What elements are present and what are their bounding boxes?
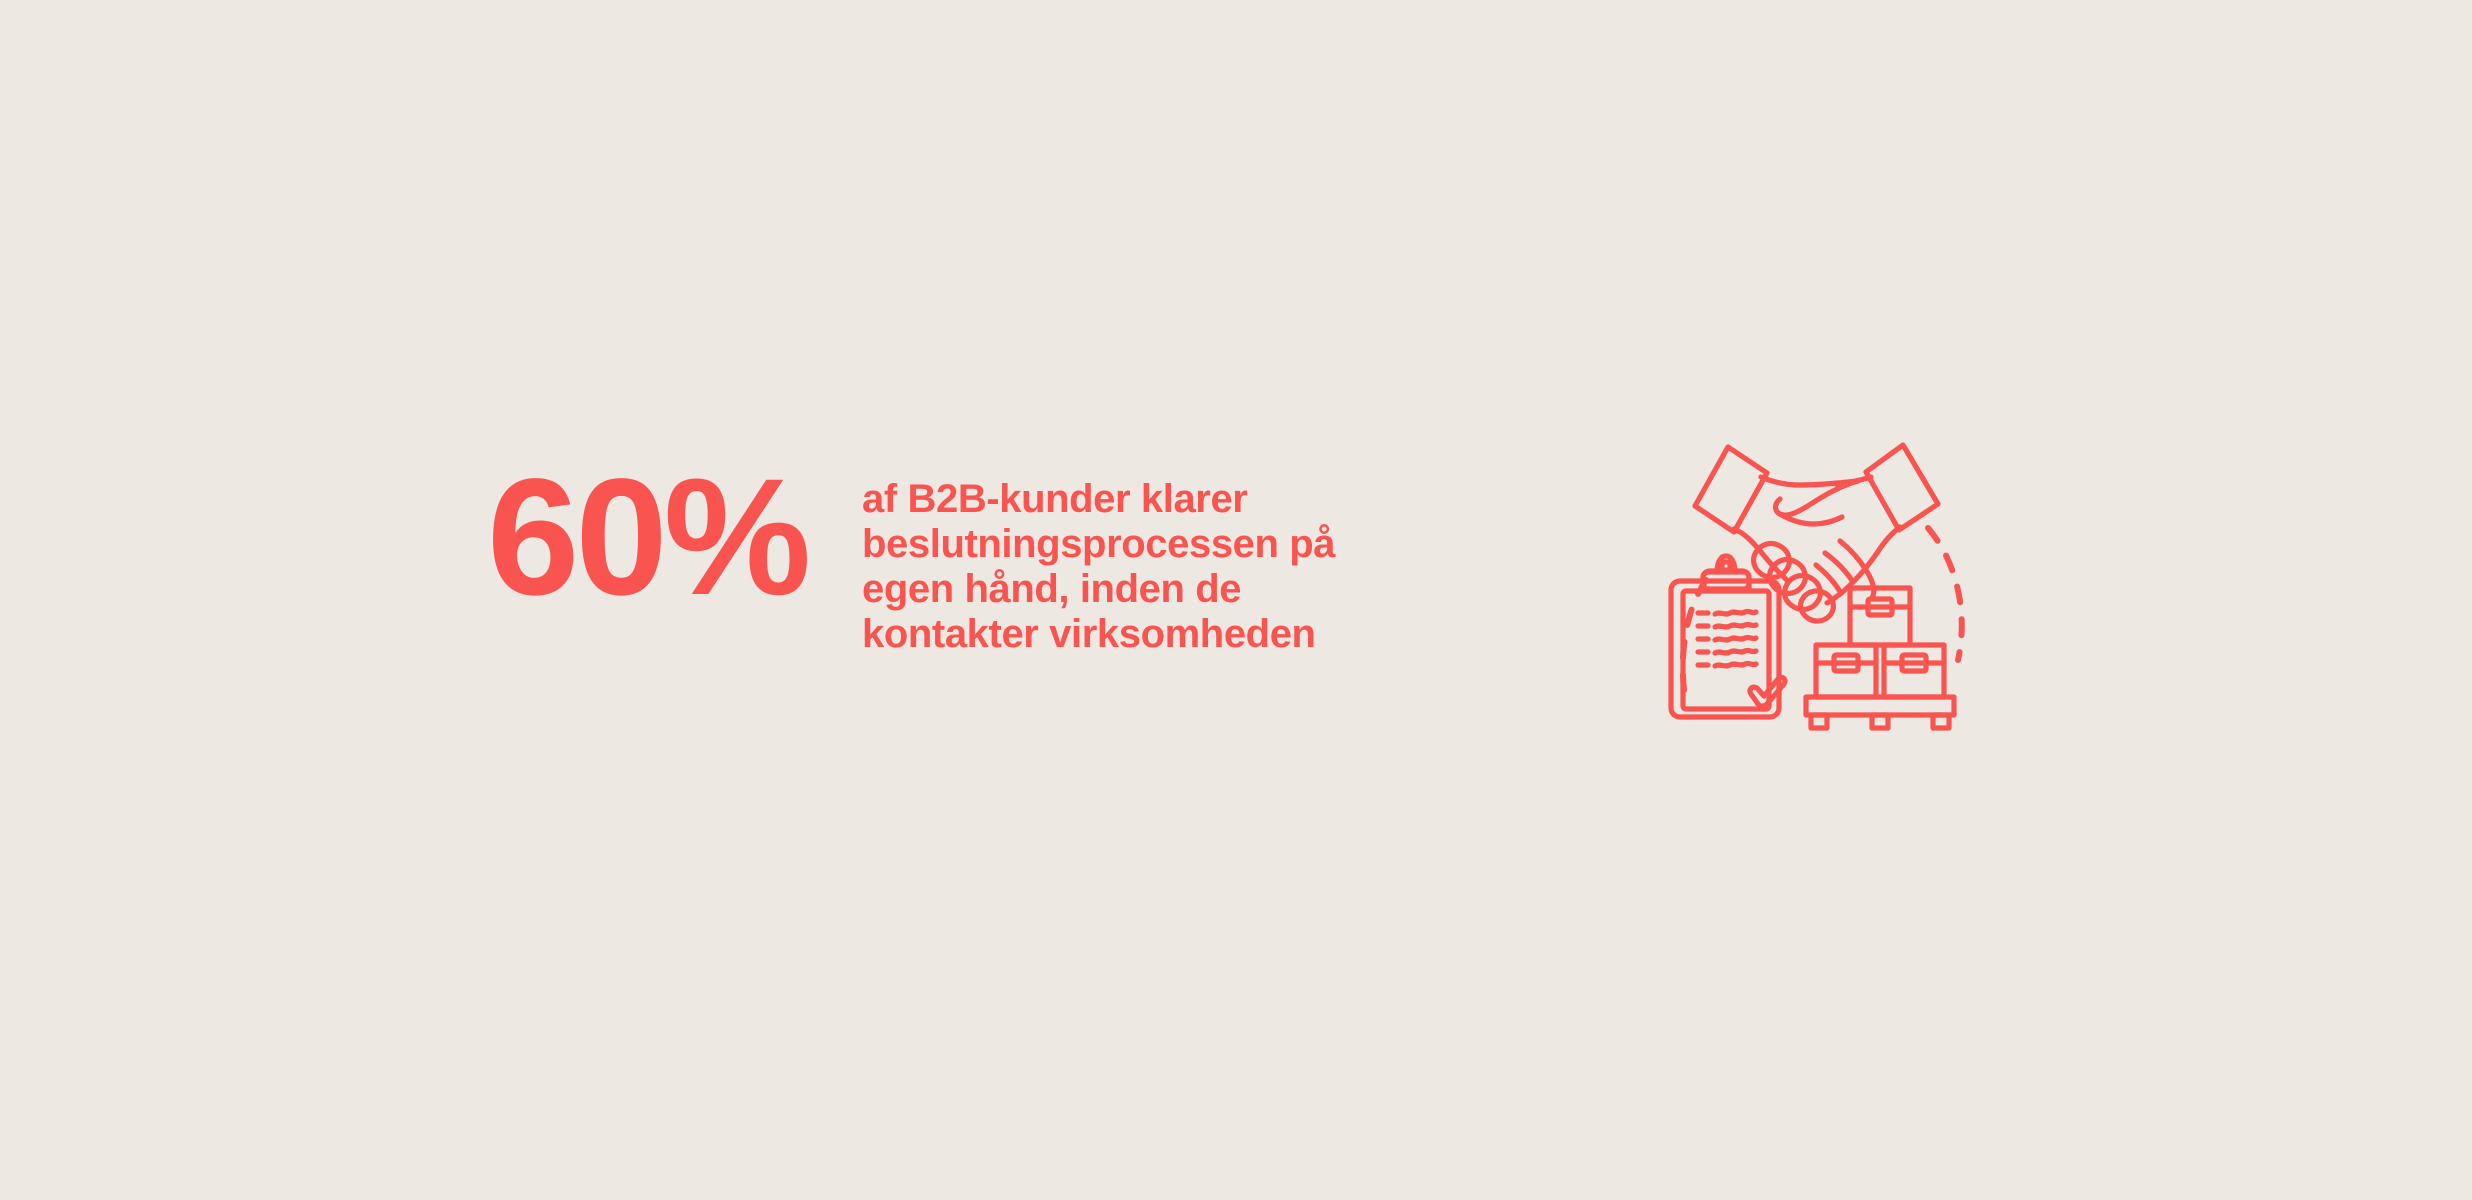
handshake-icon [1695,445,1938,621]
dashed-arc-right [1928,528,1962,660]
dashed-arc-left [1683,580,1706,690]
stat-copy-line-2: beslutningsprocessen på [862,522,1602,567]
stat-copy-line-3: egen hånd, inden de [862,567,1602,612]
stat-copy-line-4: kontakter virksomheden [862,612,1602,657]
stat-copy-line-1: af B2B-kunder klarer [862,477,1602,522]
clipboard-checklist-icon [1671,556,1785,717]
stacked-boxes-pallet-icon [1806,588,1954,728]
stat-copy: af B2B-kunder klarer beslutningsprocesse… [862,477,1602,657]
stat-banner: 60% af B2B-kunder klarer beslutningsproc… [0,0,2472,1200]
stat-figure: 60% [487,455,807,621]
handshake-clipboard-boxes-illustration [1628,405,2008,795]
